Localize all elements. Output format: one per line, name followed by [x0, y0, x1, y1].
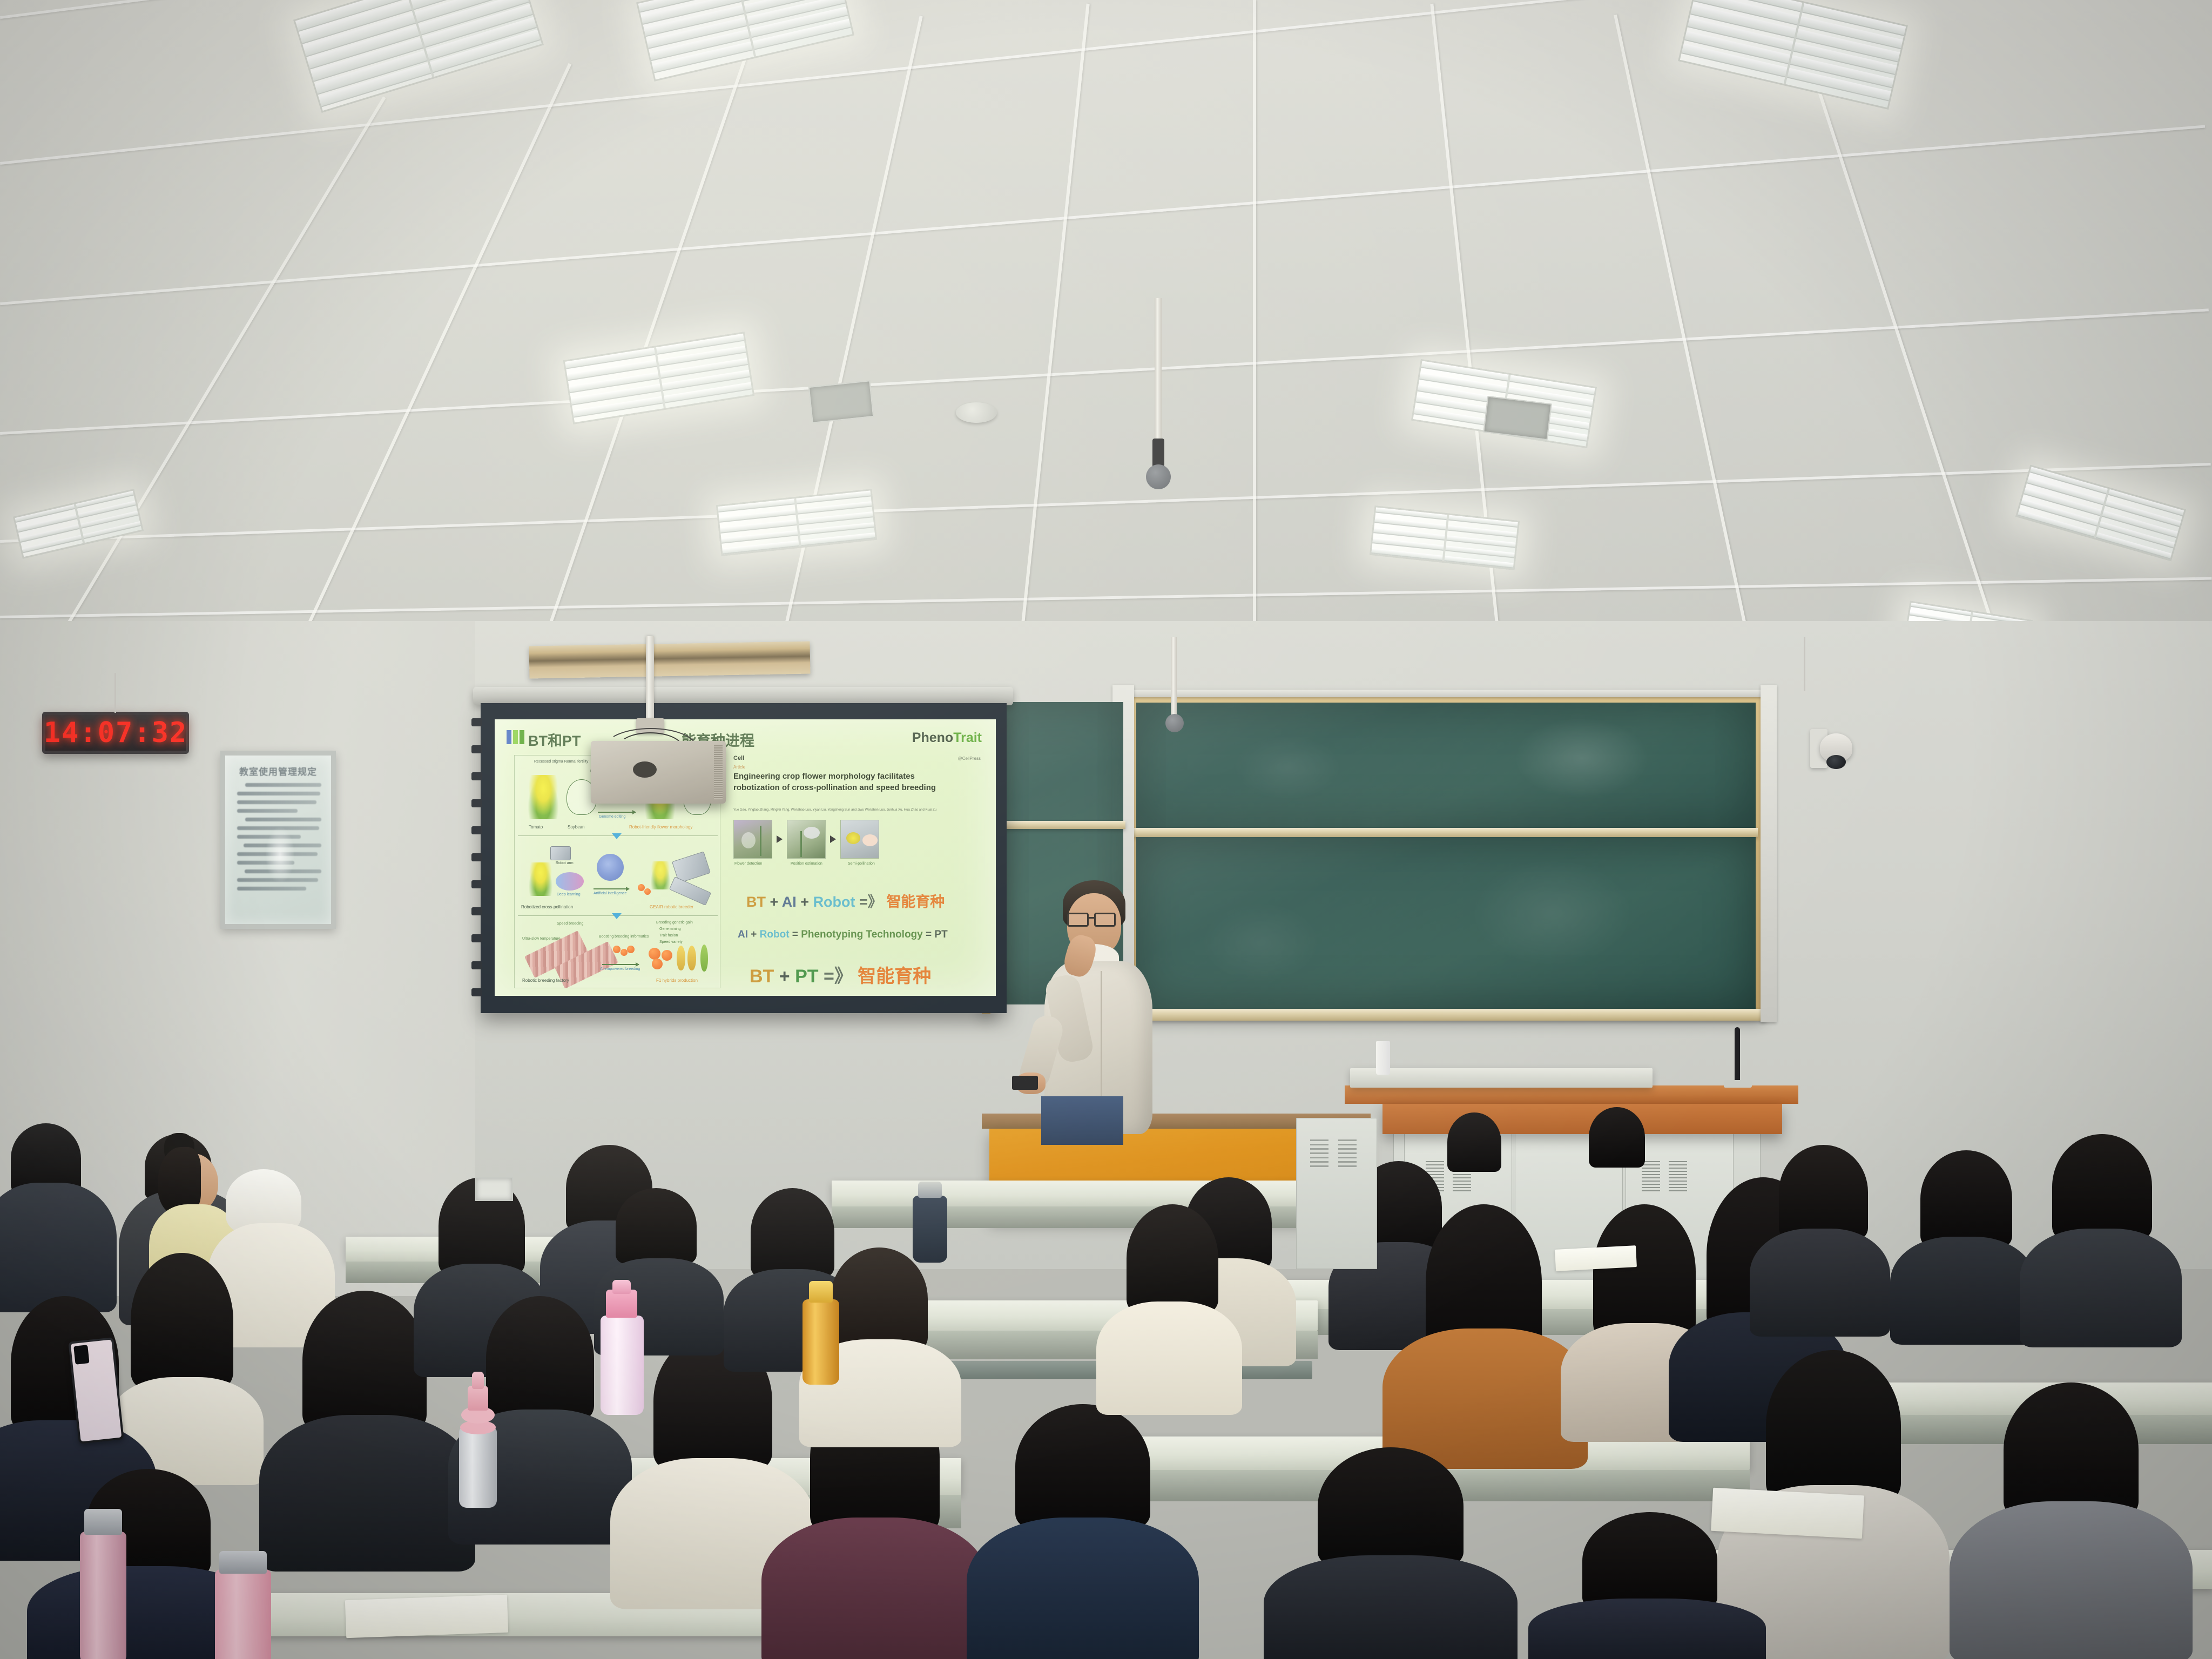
student-hair	[1589, 1107, 1645, 1168]
equation-ai-robot-pt: AI + Robot = Phenotyping Technology = PT	[738, 929, 948, 941]
presenter-legs	[1041, 1096, 1123, 1145]
label-robot-friendly-morphology: Robot-friendly flower morphology	[629, 825, 692, 829]
flow-arrow-1	[612, 833, 622, 839]
locker-vent	[1310, 1139, 1328, 1168]
ceiling-grid-line	[1253, 0, 1256, 680]
label-deep-learning: Deep learning	[557, 893, 581, 896]
paper-title: Engineering crop flower morphology facil…	[733, 771, 949, 793]
student-hair	[2004, 1382, 2139, 1518]
clock-time: 14:07:32	[44, 717, 187, 749]
ceiling-vent	[1483, 396, 1552, 440]
camera-cable	[1804, 637, 1805, 691]
bullet-speed-variety: Speed variety	[659, 940, 683, 944]
student-hair	[1766, 1350, 1901, 1501]
teaching-console-top	[1345, 1085, 1798, 1104]
student-hair	[1920, 1150, 2012, 1247]
student-body	[1264, 1555, 1518, 1659]
label-robot-arm: Robot arm	[556, 861, 574, 865]
wall-socket[interactable]	[475, 1177, 513, 1201]
student	[1096, 1204, 1242, 1410]
student	[0, 1123, 108, 1301]
student-hair	[831, 1247, 928, 1350]
glasses-icon	[1067, 913, 1089, 927]
student-hair	[1582, 1512, 1717, 1609]
student-hair	[1447, 1112, 1501, 1172]
journal-press-label: @CellPress	[958, 756, 981, 761]
character-water-bottle[interactable]	[598, 1280, 648, 1415]
blackboard-panel-upper	[1136, 703, 1756, 828]
blackboard-panel-lower	[1136, 837, 1756, 1009]
bullet-trait-fusion: Trait fusion	[659, 934, 678, 938]
locker-vent	[1338, 1139, 1357, 1168]
tea-bottle[interactable]	[802, 1281, 841, 1384]
figure-photo-semi-pollination	[840, 820, 879, 859]
projected-slide: BT和PT 能育种进程 PhenoTrait Recessed stigma N…	[495, 719, 996, 996]
article-type-label: Article	[733, 765, 745, 770]
label-boosting-breeding-informatics: Boosting breeding informatics	[599, 935, 649, 939]
label-recessed-stigma: Recessed stigma Normal fertility	[534, 760, 588, 764]
chalk-rail-lower	[1126, 1009, 1766, 1021]
student	[2020, 1134, 2182, 1339]
arrow-ai-empowered-breeding	[602, 964, 639, 965]
console-worktop	[1350, 1068, 1653, 1088]
student-hair	[1318, 1447, 1464, 1566]
figure-arrow-icon	[777, 835, 783, 843]
vacuum-flask[interactable]	[913, 1182, 950, 1263]
pink-thermos-bottle[interactable]	[457, 1366, 503, 1507]
lecture-hall-photo: 14:07:32 教室使用管理规定	[0, 0, 2212, 1659]
label-f1-hybrids-production: F1 hybrids production	[656, 978, 698, 983]
microphone-base	[1724, 1080, 1752, 1088]
robot-arm-icon	[550, 846, 571, 860]
pink-tumbler[interactable]	[215, 1548, 274, 1659]
student-hair	[1127, 1204, 1218, 1312]
student-body	[1750, 1229, 1890, 1337]
digital-clock: 14:07:32	[42, 712, 189, 754]
student-hair	[1779, 1145, 1868, 1239]
student-hair	[2052, 1134, 2152, 1239]
student	[1750, 1145, 1890, 1328]
paper-figure-strip	[733, 820, 879, 859]
student	[1258, 1447, 1518, 1659]
student	[1382, 1204, 1588, 1458]
projector-mount-pole	[646, 636, 654, 723]
student	[1890, 1150, 2036, 1339]
flower-row2-icon	[528, 862, 554, 896]
projection-screen: BT和PT 能育种进程 PhenoTrait Recessed stigma N…	[481, 703, 1007, 1013]
paper-sheet[interactable]	[1555, 1245, 1637, 1271]
label-genome-editing: Genome editing	[599, 815, 625, 819]
notice-board: 教室使用管理规定	[220, 751, 336, 929]
equation-bt-pt: BT + PT =》 智能育种	[750, 961, 931, 988]
ceiling-speaker	[1165, 714, 1184, 732]
student-body	[761, 1518, 988, 1659]
dome-camera-lens	[1826, 755, 1846, 769]
console-microphone	[1735, 1027, 1740, 1083]
phone-camera-icon	[73, 1345, 89, 1365]
blackboard-top-rail	[1129, 690, 1763, 697]
journal-name: Cell	[733, 755, 744, 761]
steel-thermos[interactable]	[80, 1507, 129, 1659]
clock-cable	[114, 673, 116, 713]
flow-arrow-2	[612, 913, 622, 919]
slide-title-left: BT和PT	[528, 729, 581, 750]
logo-part-pheno: Pheno	[912, 730, 953, 745]
student-body	[1890, 1237, 2036, 1345]
deep-learning-icon	[556, 872, 584, 891]
presentation-clicker	[1012, 1076, 1038, 1090]
student	[1528, 1512, 1766, 1659]
projector-lens	[633, 761, 657, 778]
arrow-artificial-intelligence	[594, 888, 629, 889]
screen-valance-board	[529, 641, 811, 678]
label-ai-empowered-breeding: Al-empowered breeding	[600, 967, 640, 971]
logo-part-trait: Trait	[953, 730, 982, 745]
paper-cup	[1376, 1041, 1390, 1075]
slide-right-panel: Cell @CellPress Article Engineering crop…	[730, 755, 984, 990]
label-tomato: Tomato	[529, 825, 543, 829]
slide-title-accent-bars	[507, 730, 524, 744]
figure-label-semi-pollination: Semi-pollination	[848, 862, 875, 866]
label-ultra-slow-temperature: Ultra-slow temperature	[522, 937, 561, 941]
robotic-track-icon	[669, 876, 711, 906]
notebook-page[interactable]	[1711, 1488, 1864, 1539]
ceiling-mic-pole	[1155, 298, 1162, 449]
figure-label-flower-detection: Flower detection	[734, 862, 762, 866]
student-body	[1096, 1301, 1242, 1415]
label-soybean: Soybean	[568, 825, 585, 829]
student-body	[1528, 1599, 1766, 1659]
student-body	[259, 1415, 475, 1572]
student-hair	[131, 1253, 233, 1388]
student-body	[967, 1518, 1199, 1659]
student-hair	[302, 1291, 427, 1431]
label-geair-robotic-breeder: GEAIR robotic breeder	[650, 905, 693, 909]
student	[1944, 1382, 2193, 1659]
projection-screen-housing	[473, 687, 1013, 705]
student-body	[0, 1183, 117, 1312]
phenotrait-logo: PhenoTrait	[912, 730, 982, 746]
student	[1577, 1107, 1658, 1199]
notice-board-title: 教室使用管理规定	[235, 764, 321, 778]
wall-locker	[1296, 1118, 1377, 1269]
figure-photo-position-estimation	[787, 820, 826, 859]
chalk-rail-partial	[986, 821, 1125, 829]
equation-bt-ai-robot: BT + AI + Robot =》 智能育种	[746, 890, 945, 911]
ceiling-speaker-pole	[1171, 637, 1177, 724]
figure-arrow-icon-2	[830, 835, 836, 843]
ceiling-vent	[808, 380, 874, 423]
bullet-gene-mining: Gene mining	[659, 927, 681, 931]
student-body	[2020, 1229, 2182, 1347]
projector-body	[591, 741, 726, 804]
student-body	[1950, 1501, 2193, 1659]
label-robotized-cross-pollination: Robotized cross-pollination	[521, 905, 573, 909]
student	[961, 1404, 1199, 1659]
blackboard	[1129, 694, 1763, 1018]
smoke-detector	[956, 402, 997, 423]
student-hair	[1015, 1404, 1150, 1528]
glasses-icon-right	[1094, 913, 1116, 927]
ceiling-mic-capsule	[1146, 464, 1171, 489]
paper-authors: Yue Gao, Yingtao Zhang, Mingfei Yang, We…	[733, 808, 960, 813]
ai-brain-icon	[597, 854, 624, 881]
label-robotic-breeding-factory: Robotic breeding factory	[522, 978, 569, 983]
arrow-genome-editing	[598, 812, 636, 813]
chalk-rail-upper	[1134, 828, 1758, 837]
label-speed-breeding: Speed breeding	[557, 922, 583, 926]
student-hair	[616, 1188, 697, 1264]
glasses-bridge	[1088, 917, 1095, 919]
blackboard-track-right	[1761, 685, 1777, 1022]
label-artificial-intelligence: Artificial intelligence	[594, 892, 626, 895]
notebook-page[interactable]	[345, 1595, 508, 1638]
flower-tomato-icon	[527, 775, 560, 819]
figure-label-position-estimation: Position estimation	[791, 862, 822, 866]
student	[1437, 1112, 1512, 1204]
label-breeding-genetic-gain: Breeding genetic gain	[656, 921, 693, 925]
figure-photo-flower-detection	[733, 820, 772, 859]
